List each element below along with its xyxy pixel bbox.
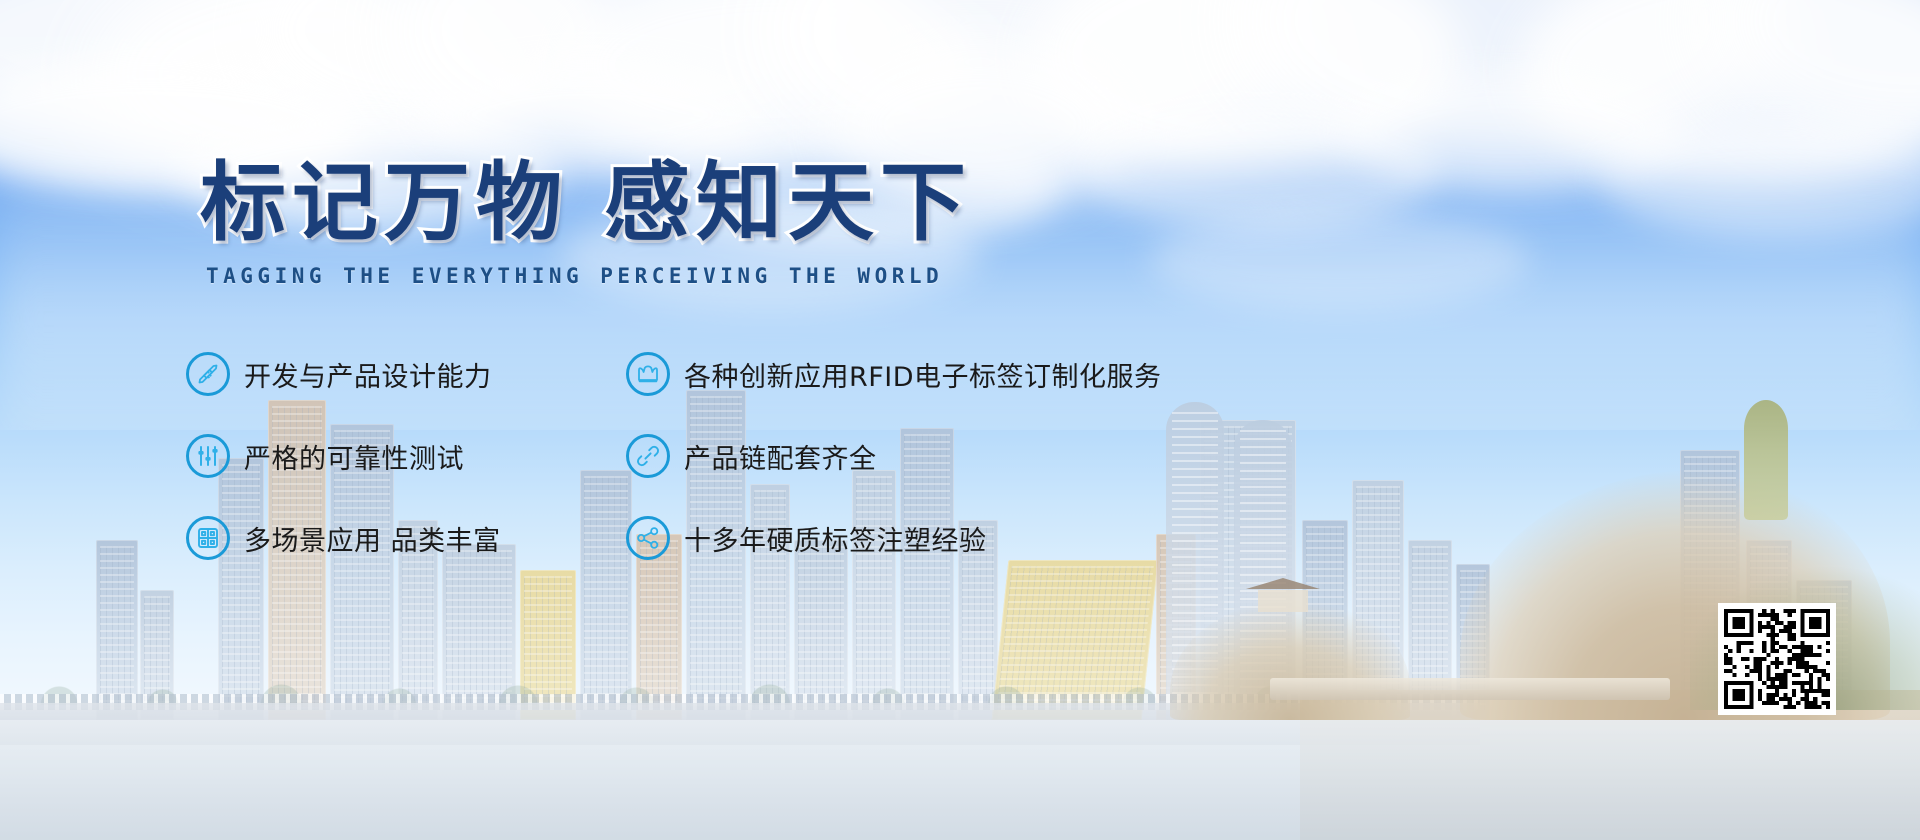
headline-chinese: 标记万物 感知天下	[200, 160, 1100, 246]
feature-item-reliability-test: 严格的可靠性测试	[186, 434, 616, 478]
feature-item-design: 开发与产品设计能力	[186, 352, 616, 396]
chain-link-icon	[626, 434, 670, 478]
feature-item-experience: 十多年硬质标签注塑经验	[626, 516, 1306, 560]
feature-label: 产品链配套齐全	[684, 437, 877, 476]
headline-block: 标记万物 感知天下 TAGGING THE EVERYTHING PERCEIV…	[200, 160, 1100, 288]
feature-list: 开发与产品设计能力 各种创新应用RFID电子标签订制化服务	[186, 352, 1306, 560]
feature-label: 开发与产品设计能力	[244, 355, 492, 394]
qr-code-image	[1724, 609, 1830, 709]
headline-english: TAGGING THE EVERYTHING PERCEIVING THE WO…	[206, 264, 1100, 288]
feature-label: 多场景应用 品类丰富	[244, 519, 501, 558]
feature-item-supply-chain: 产品链配套齐全	[626, 434, 1306, 478]
crown-icon	[626, 352, 670, 396]
feature-label: 严格的可靠性测试	[244, 437, 464, 476]
pencil-ruler-icon	[186, 352, 230, 396]
grid-window-icon	[186, 516, 230, 560]
feature-item-scenarios: 多场景应用 品类丰富	[186, 516, 616, 560]
hero-banner: 标记万物 感知天下 TAGGING THE EVERYTHING PERCEIV…	[0, 0, 1920, 840]
qr-code[interactable]	[1718, 603, 1836, 715]
feature-item-rfid-custom: 各种创新应用RFID电子标签订制化服务	[626, 352, 1306, 396]
feature-label: 十多年硬质标签注塑经验	[684, 519, 987, 558]
share-network-icon	[626, 516, 670, 560]
equalizer-icon	[186, 434, 230, 478]
feature-label: 各种创新应用RFID电子标签订制化服务	[684, 355, 1162, 394]
